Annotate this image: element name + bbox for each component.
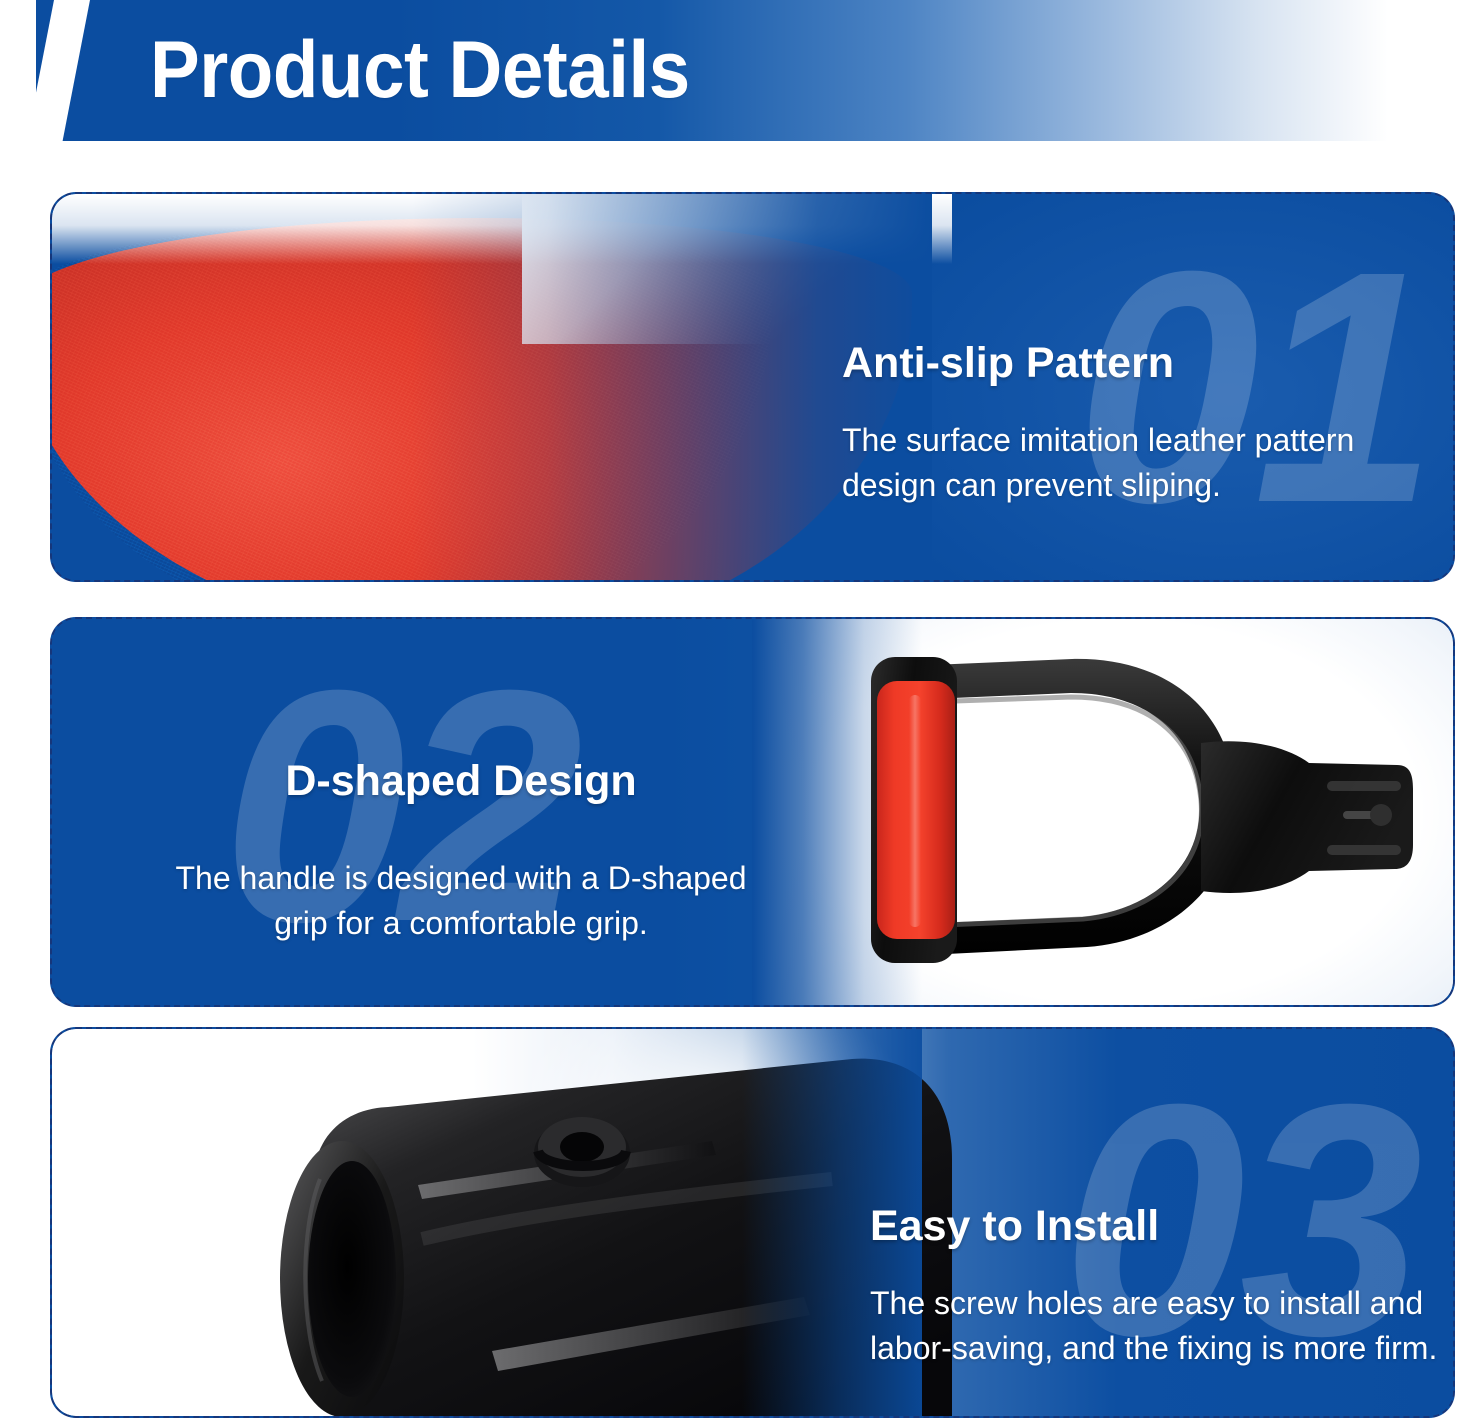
card-1-heading: Anti-slip Pattern [842, 336, 1442, 390]
product-details-page: Product Details 01 Anti-slip Pattern The… [0, 0, 1461, 1425]
card-1-body: The surface imitation leather pattern de… [842, 418, 1442, 508]
card-2-body: The handle is designed with a D-shaped g… [156, 856, 766, 946]
card-3-text-block: Easy to Install The screw holes are easy… [870, 1199, 1453, 1371]
card-3-canvas: 03 Easy to Install The screw holes are e… [52, 1029, 1453, 1416]
card-2-text-block: D-shaped Design The handle is designed w… [156, 754, 766, 946]
card-2-canvas: 02 D-shaped Design The handle is designe… [52, 619, 1453, 1005]
page-header: Product Details [0, 0, 1461, 141]
d-handle-illustration [857, 639, 1417, 989]
page-title: Product Details [150, 17, 690, 123]
card-1-text-block: Anti-slip Pattern The surface imitation … [842, 336, 1442, 508]
card-1-canvas: 01 Anti-slip Pattern The surface imitati… [52, 194, 1453, 580]
screw-hole [560, 1132, 604, 1162]
card-3-heading: Easy to Install [870, 1199, 1453, 1253]
socket-rib-top [1327, 781, 1401, 791]
card-2-heading: D-shaped Design [156, 754, 766, 808]
feature-card-d-shaped-design: 02 D-shaped Design The handle is designe… [50, 617, 1455, 1007]
red-grip-highlight [909, 695, 921, 927]
tube-bore [308, 1161, 396, 1397]
card-3-body: The screw holes are easy to install and … [870, 1281, 1453, 1371]
feature-card-easy-to-install: 03 Easy to Install The screw holes are e… [50, 1027, 1455, 1418]
socket-rib-bottom [1327, 845, 1401, 855]
feature-card-anti-slip-pattern: 01 Anti-slip Pattern The surface imitati… [50, 192, 1455, 582]
socket-boss [1370, 804, 1392, 826]
